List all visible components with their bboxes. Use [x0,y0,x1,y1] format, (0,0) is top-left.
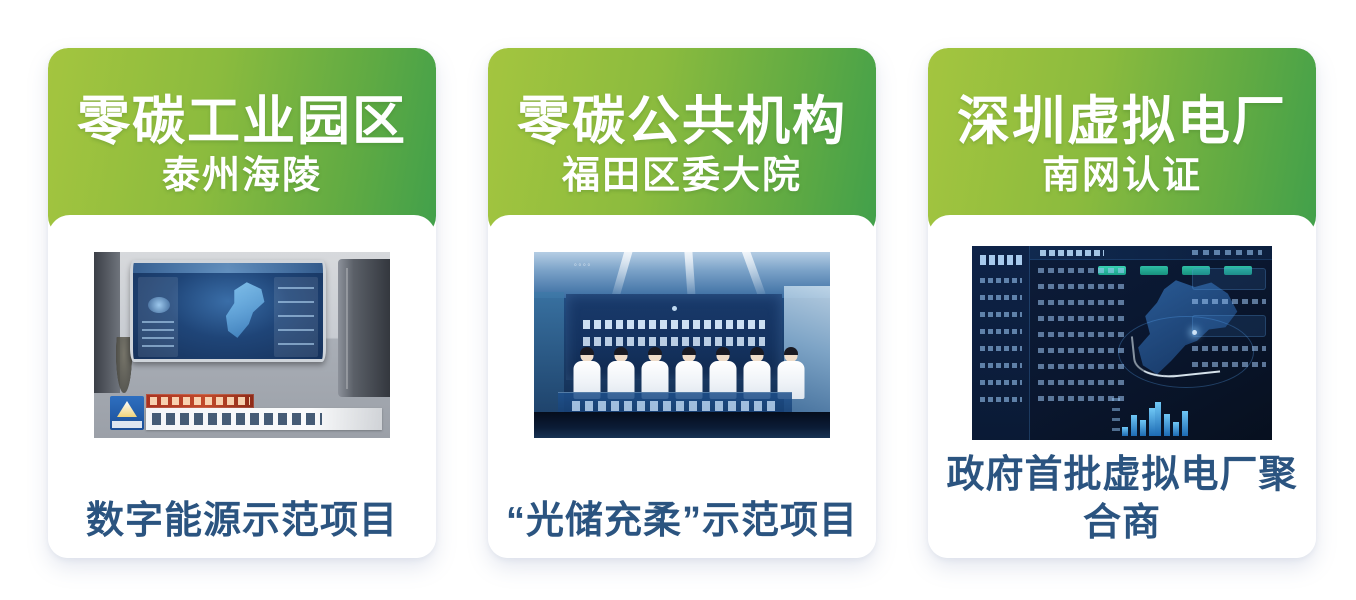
card-title: 零碳公共机构 [517,94,847,149]
chart-y-axis [1112,398,1120,434]
screen-data-row [142,321,174,323]
bar-chart-right [1155,396,1188,436]
bar-chart-left [1122,396,1155,436]
news-headline-banner [146,394,254,408]
virtual-power-plant-dashboard-screenshot [972,246,1272,440]
card-body: 政府首批虚拟电厂聚合商 [928,246,1316,558]
attendees-group [564,338,786,400]
dashboard-topbar [1030,246,1272,260]
axis-tick [1112,398,1120,401]
card-subtitle: 泰州海陵 [162,157,322,197]
ceremony-stage-photo: 。。。。 [534,252,830,438]
card-body: 数字能源示范项目 [48,252,436,558]
showcase-card-zero-carbon-industrial-park[interactable]: 零碳工业园区 泰州海陵 [48,48,436,558]
sidebar-item [980,346,1022,351]
banner-text-line [572,401,778,411]
screen-data-row [278,329,314,331]
sidebar-item [980,380,1022,385]
dashboard-right-stats-panel [1192,268,1266,432]
stat-row [1192,299,1266,304]
sidebar-item [980,397,1022,402]
stat-card [1192,315,1266,337]
card-thumbnail[interactable]: 。。。。 [534,252,830,438]
screen-data-row [142,337,174,339]
screen-gauge-icon [148,297,170,313]
screen-data-row [278,343,314,345]
sidebar-item [980,312,1022,317]
stat-row [1038,348,1126,353]
card-title: 零碳工业园区 [77,94,407,149]
card-caption: 数字能源示范项目 [48,497,436,546]
showcase-card-zero-carbon-public-institution[interactable]: 零碳公共机构 福田区委大院 。。。。 [488,48,876,558]
dashboard-tab [1140,266,1168,275]
stat-row [1038,364,1126,369]
stat-row [1038,300,1126,305]
axis-tick [1112,408,1120,411]
stat-row [1038,268,1126,273]
topbar-title [1040,250,1104,256]
dashboard-sidebar [972,246,1030,440]
broadcaster-logo-icon [110,396,144,430]
card-caption: 政府首批虚拟电厂聚合商 [928,451,1316,548]
axis-tick [1112,428,1120,431]
led-logo-dot [672,306,677,311]
stat-card [1192,268,1266,290]
card-title: 深圳虚拟电厂 [957,94,1287,149]
screen-data-row [278,287,314,289]
card-header: 零碳公共机构 福田区委大院 [488,48,876,238]
dashboard-bar-charts [1122,396,1186,436]
screen-right-panel [274,277,318,357]
stat-row [1192,362,1266,367]
led-text-line [583,320,764,329]
large-display-screen [130,260,326,362]
photo-watermark: 。。。。 [574,258,596,268]
stat-row [1038,284,1126,289]
screen-region-map [217,282,269,340]
showcase-card-shenzhen-virtual-power-plant[interactable]: 深圳虚拟电厂 南网认证 [928,48,1316,558]
right-door-panel [338,259,390,397]
card-thumbnail[interactable] [94,252,390,438]
stat-row [1038,332,1126,337]
card-body: 。。。。 [488,252,876,558]
stat-row [1192,346,1266,351]
card-subtitle: 南网认证 [1042,157,1202,197]
topbar-actions [1192,250,1262,255]
screen-data-row [278,315,314,317]
news-subtitle-banner [146,408,382,430]
dashboard-logo-icon [980,255,1022,265]
stage-floor [534,412,830,438]
card-subtitle: 福田区委大院 [562,157,802,197]
tv-news-control-room-screenshot [94,252,390,438]
card-thumbnail[interactable] [972,246,1272,440]
stat-row [1038,316,1126,321]
card-caption: “光储充柔”示范项目 [488,497,876,546]
axis-tick [1112,418,1120,421]
showcase-cards-panel: 零碳工业园区 泰州海陵 [0,0,1356,600]
screen-data-row [142,345,174,347]
sidebar-item [980,295,1022,300]
screen-header-band [133,263,323,273]
card-header: 零碳工业园区 泰州海陵 [48,48,436,238]
sidebar-item [980,278,1022,283]
screen-left-panel [138,277,178,357]
stat-row [1038,380,1126,385]
sidebar-item [980,329,1022,334]
screen-data-row [142,329,174,331]
sidebar-item [980,363,1022,368]
card-header: 深圳虚拟电厂 南网认证 [928,48,1316,238]
dashboard-menu-list [980,278,1022,414]
screen-data-row [278,301,314,303]
